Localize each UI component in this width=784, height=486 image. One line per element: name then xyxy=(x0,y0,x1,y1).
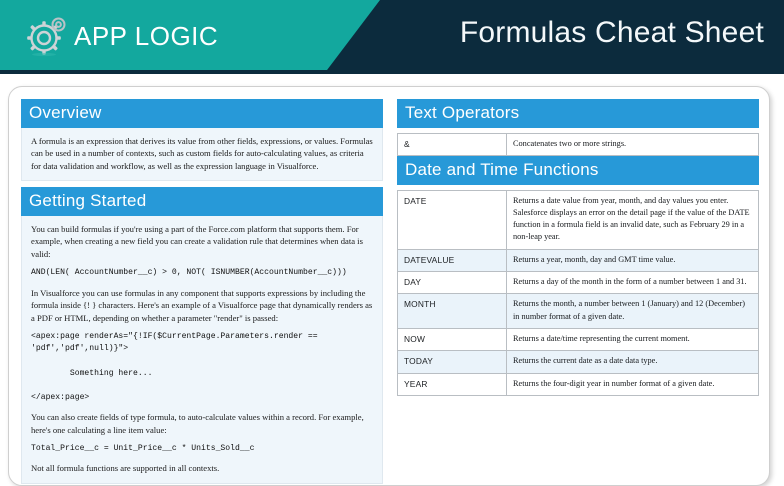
page-header-banner: APP LOGIC Formulas Cheat Sheet xyxy=(0,0,784,74)
gs-paragraph-3: You can also create fields of type formu… xyxy=(31,411,373,436)
section-body-getting-started: You can build formulas if you're using a… xyxy=(21,216,383,484)
function-name: YEAR xyxy=(398,373,507,395)
gs-paragraph-1: You can build formulas if you're using a… xyxy=(31,223,373,261)
function-description: Returns the four-digit year in number fo… xyxy=(507,373,759,395)
function-description: Returns the month, a number between 1 (J… xyxy=(507,294,759,329)
gear-icon xyxy=(24,13,70,59)
table-row: DATEVALUE Returns a year, month, day and… xyxy=(398,249,759,271)
section-header-overview: Overview xyxy=(21,99,383,128)
function-description: Concatenates two or more strings. xyxy=(507,133,759,155)
function-name: DATE xyxy=(398,190,507,249)
page-title: Formulas Cheat Sheet xyxy=(460,16,764,50)
table-row: MONTH Returns the month, a number betwee… xyxy=(398,294,759,329)
function-description: Returns the current date as a date data … xyxy=(507,351,759,373)
function-name: NOW xyxy=(398,329,507,351)
function-name: DATEVALUE xyxy=(398,249,507,271)
table-row: NOW Returns a date/time representing the… xyxy=(398,329,759,351)
function-name: MONTH xyxy=(398,294,507,329)
gs-paragraph-4: Not all formula functions are supported … xyxy=(31,462,373,475)
section-body-overview: A formula is an expression that derives … xyxy=(21,128,383,182)
left-column: Overview A formula is an expression that… xyxy=(21,99,383,484)
brand-logo[interactable]: APP LOGIC xyxy=(24,13,218,59)
right-column: Text Operators & Concatenates two or mor… xyxy=(397,99,759,484)
function-description: Returns a date value from year, month, a… xyxy=(507,190,759,249)
text-operators-table: & Concatenates two or more strings. xyxy=(397,133,759,156)
brand-logo-text: APP LOGIC xyxy=(74,23,218,49)
section-overview: Overview A formula is an expression that… xyxy=(21,99,383,181)
gs-code-2: <apex:page renderAs="{!IF($CurrentPage.P… xyxy=(31,331,373,404)
section-header-date-time-functions: Date and Time Functions xyxy=(397,156,759,185)
gs-paragraph-2: In Visualforce you can use formulas in a… xyxy=(31,287,373,325)
table-row: DATE Returns a date value from year, mon… xyxy=(398,190,759,249)
gs-code-1: AND(LEN( AccountNumber__c) > 0, NOT( ISN… xyxy=(31,267,373,279)
table-row: YEAR Returns the four-digit year in numb… xyxy=(398,373,759,395)
header-underline xyxy=(0,70,784,74)
overview-paragraph: A formula is an expression that derives … xyxy=(31,135,373,173)
function-name: TODAY xyxy=(398,351,507,373)
date-time-functions-table: DATE Returns a date value from year, mon… xyxy=(397,190,759,397)
section-getting-started: Getting Started You can build formulas i… xyxy=(21,187,383,484)
section-text-operators: Text Operators & Concatenates two or mor… xyxy=(397,99,759,156)
section-header-getting-started: Getting Started xyxy=(21,187,383,216)
cheat-sheet-card: Overview A formula is an expression that… xyxy=(8,86,770,486)
function-description: Returns a day of the month in the form o… xyxy=(507,272,759,294)
function-description: Returns a date/time representing the cur… xyxy=(507,329,759,351)
table-row: DAY Returns a day of the month in the fo… xyxy=(398,272,759,294)
function-name: DAY xyxy=(398,272,507,294)
gs-code-3: Total_Price__c = Unit_Price__c * Units_S… xyxy=(31,443,373,455)
function-description: Returns a year, month, day and GMT time … xyxy=(507,249,759,271)
function-name: & xyxy=(398,133,507,155)
table-row: TODAY Returns the current date as a date… xyxy=(398,351,759,373)
table-row: & Concatenates two or more strings. xyxy=(398,133,759,155)
section-header-text-operators: Text Operators xyxy=(397,99,759,128)
section-date-time-functions: Date and Time Functions DATE Returns a d… xyxy=(397,156,759,396)
content-columns: Overview A formula is an expression that… xyxy=(21,99,759,484)
